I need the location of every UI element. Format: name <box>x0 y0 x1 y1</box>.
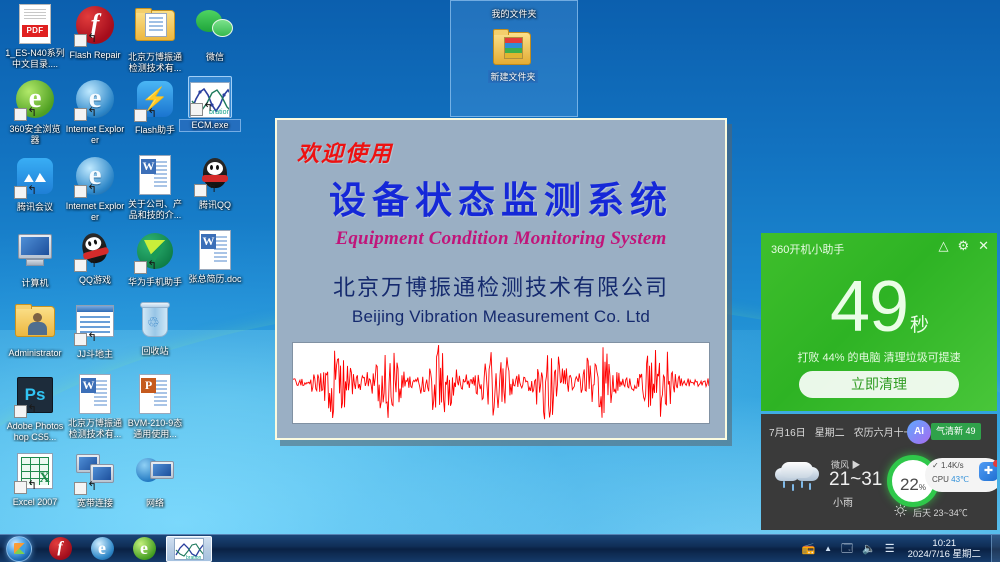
desktop-icon-wechat[interactable]: 微信 <box>185 4 245 63</box>
desktop-icon-label: 腾讯会议 <box>5 202 65 213</box>
desktop-icon-huawei-assistant[interactable]: 华为手机助手 <box>125 230 185 288</box>
forecast-text: 后天 23~34℃ <box>913 506 968 519</box>
accelerate-button[interactable]: ✚ <box>979 462 997 481</box>
desktop-icon-label: 北京万博振通检测技术有... <box>65 418 125 439</box>
jj-game-icon <box>73 305 117 347</box>
widget-subtitle: 打败 44% 的电脑 清理垃圾可提速 <box>761 349 997 365</box>
shirt-icon[interactable]: △ <box>938 239 948 253</box>
desktop-icon-grid: PDF 1_ES-N40系列中文目录.... Flash Repair 北京万博… <box>0 0 245 525</box>
weekday-text: 星期二 <box>815 424 845 439</box>
rain-cloud-icon <box>775 458 821 492</box>
network-speed-row: ✓ 1.4K/s <box>932 461 964 470</box>
desktop-icon-label: Administrator <box>5 348 65 359</box>
desktop-icon-broadband-connection[interactable]: 宽带连接 <box>65 450 125 509</box>
desktop-icon-internet-explorer[interactable]: Internet Explorer <box>65 78 125 145</box>
shortcut-arrow-icon <box>134 109 147 122</box>
shortcut-arrow-icon <box>194 184 207 197</box>
desktop-icon-company-intro-doc[interactable]: W 关于公司、产品和技的介... <box>125 155 185 220</box>
word-document-icon: W <box>193 230 237 272</box>
broadband-icon <box>73 454 117 496</box>
air-quality-badge: 气清新 49 <box>931 423 981 440</box>
splash-title-english: Equipment Condition Monitoring System <box>277 228 725 250</box>
desktop-icon-excel-2007[interactable]: Excel 2007 <box>5 450 65 508</box>
tencent-meeting-icon <box>13 158 57 200</box>
desktop-icon-label: 回收站 <box>125 346 185 357</box>
desktop-icon-label: 宽带连接 <box>65 498 125 509</box>
windows-flag-icon <box>14 543 25 554</box>
desktop-selection-region[interactable]: 我的文件夹 新建文件夹 <box>450 0 578 117</box>
system-tray: 📻 ▲ 🗔 🔈 ☰ 10:21 2024/7/16 星期二 <box>801 536 991 562</box>
desktop-icon-recycle-bin[interactable]: ♲ 回收站 <box>125 300 185 357</box>
user-folder-icon <box>13 304 57 346</box>
desktop-icon-label: 关于公司、产品和技的介... <box>125 199 185 220</box>
desktop-icon-label: JJ斗地主 <box>65 349 125 360</box>
cpu-label: CPU <box>932 475 949 484</box>
desktop-icon-label: Flash助手 <box>125 125 185 136</box>
desktop-icon-label: Internet Explorer <box>65 124 125 145</box>
folder-icon <box>133 8 177 50</box>
show-hidden-icons-button[interactable]: ▲ <box>824 544 832 553</box>
desktop-icon-label: 360安全浏览器 <box>5 124 65 145</box>
pdf-icon: PDF <box>13 4 57 46</box>
start-button[interactable] <box>2 536 38 562</box>
shortcut-arrow-icon <box>14 186 27 199</box>
desktop-icon-label: 微信 <box>185 52 245 63</box>
vibration-waveform-panel <box>292 342 710 424</box>
temperature-range: 21~31 <box>829 469 882 491</box>
network-icon <box>133 454 177 496</box>
date-row: 7月16日 星期二 农历六月十一 <box>769 424 914 439</box>
desktop-icon-label: ECM.exe <box>180 120 240 131</box>
shortcut-arrow-icon <box>14 108 27 121</box>
desktop-icon-administrator[interactable]: Administrator <box>5 300 65 359</box>
qq-penguin-icon <box>193 156 237 198</box>
desktop-icon-flash-assistant[interactable]: Flash助手 <box>125 78 185 136</box>
splash-company-chinese: 北京万博振通检测技术有限公司 <box>277 270 725 302</box>
desktop-icon-ecm-exe[interactable]: bration ECM.exe <box>180 76 240 131</box>
show-desktop-button[interactable] <box>991 535 1000 562</box>
desktop-icon-label: 华为手机助手 <box>125 277 185 288</box>
desktop-icon-label: Excel 2007 <box>5 497 65 508</box>
clean-now-button[interactable]: 立即清理 <box>799 371 959 398</box>
desktop-icon-company-doc[interactable]: W 北京万博振通检测技术有... <box>65 374 125 439</box>
network-speed-value: 1.4K/s <box>941 461 964 470</box>
splash-title-chinese: 设备状态监测系统 <box>277 170 725 224</box>
folder-item-label: 新建文件夹 <box>488 70 537 83</box>
desktop-icon-resume-doc[interactable]: W 张总简历.doc <box>185 230 245 285</box>
word-document-icon: W <box>73 374 117 416</box>
desktop-background[interactable]: PDF 1_ES-N40系列中文目录.... Flash Repair 北京万博… <box>0 0 1000 534</box>
widget-action-buttons: △ ⚙ ✕ <box>938 239 989 253</box>
radio-icon[interactable]: 📻 <box>801 543 815 555</box>
photoshop-icon <box>13 377 57 419</box>
gear-icon[interactable]: ⚙ <box>957 239 969 253</box>
shortcut-arrow-icon <box>74 482 87 495</box>
desktop-icon-label: 计算机 <box>5 278 65 289</box>
desktop-icon-tencent-qq[interactable]: 腾讯QQ <box>185 155 245 211</box>
sun-icon <box>894 504 907 517</box>
desktop-icon-computer[interactable]: 计算机 <box>5 230 65 289</box>
shortcut-arrow-icon <box>74 34 87 47</box>
flash-icon <box>73 6 117 48</box>
desktop-icon-label: Flash Repair <box>65 50 125 61</box>
desktop-icon-network[interactable]: 网络 <box>125 450 185 509</box>
desktop-icon-company-folder[interactable]: 北京万博振通检测技术有... <box>125 4 185 73</box>
weather-system-widget[interactable]: 7月16日 星期二 农历六月十一 AI 气清新 49 微风 ▶ 21~31 小雨… <box>761 414 997 530</box>
desktop-icon-pdf-catalog[interactable]: PDF 1_ES-N40系列中文目录.... <box>5 4 65 69</box>
taskbar-button-ecm-app[interactable]: bration <box>166 536 212 562</box>
desktop-icon-bvm-manual[interactable]: P BVM-210-9态通用使用... <box>125 374 185 439</box>
folder-item-new-folder[interactable]: 新建文件夹 <box>473 29 553 85</box>
shortcut-arrow-icon <box>14 405 27 418</box>
internet-explorer-icon <box>73 80 117 122</box>
desktop-icon-label: Adobe Photoshop CS5... <box>5 421 65 442</box>
huawei-assistant-icon <box>133 233 177 275</box>
taskbar: bration 📻 ▲ 🗔 🔈 ☰ 10:21 2024/7/16 星期二 <box>0 534 1000 562</box>
svg-text:bration: bration <box>186 555 202 560</box>
desktop-icon-label: 1_ES-N40系列中文目录.... <box>5 48 65 69</box>
splash-company-english: Beijing Vibration Measurement Co. Ltd <box>277 307 725 327</box>
powerpoint-document-icon: P <box>133 374 177 416</box>
wechat-icon <box>193 8 237 50</box>
ecm-waveform-icon: bration <box>174 538 204 560</box>
desktop-icon-label: 张总简历.doc <box>185 274 245 285</box>
close-icon[interactable]: ✕ <box>978 239 989 253</box>
ai-assistant-button[interactable]: AI <box>907 420 931 444</box>
clock-date: 2024/7/16 星期二 <box>908 549 981 560</box>
lunar-date-text: 农历六月十一 <box>854 424 914 439</box>
shortcut-arrow-icon <box>74 108 87 121</box>
cpu-usage-number: 22 <box>900 475 919 494</box>
date-text: 7月16日 <box>769 424 806 439</box>
desktop-icon-label: Internet Explorer <box>65 201 125 222</box>
taskbar-button-360-browser[interactable] <box>124 536 164 562</box>
splash-welcome-text: 欢迎使用 <box>297 136 393 168</box>
ecm-waveform-icon: bration <box>188 76 232 118</box>
desktop-icon-jj-landlord[interactable]: JJ斗地主 <box>65 300 125 360</box>
selection-region-header: 我的文件夹 <box>451 7 577 20</box>
desktop-icon-label: 网络 <box>125 498 185 509</box>
color-folder-icon <box>473 29 553 67</box>
word-document-icon: W <box>133 155 177 197</box>
desktop-icon-flash-repair[interactable]: Flash Repair <box>65 4 125 61</box>
desktop-icon-photoshop[interactable]: Adobe Photoshop CS5... <box>5 374 65 442</box>
internet-explorer-icon <box>91 537 114 560</box>
cpu-temp-value: 43℃ <box>951 475 969 484</box>
shortcut-arrow-icon <box>14 481 27 494</box>
360-boot-assistant-widget[interactable]: 360开机小助手 △ ⚙ ✕ 49秒 打败 44% 的电脑 清理垃圾可提速 立即… <box>761 233 997 411</box>
recycle-bin-icon: ♲ <box>133 302 177 344</box>
shortcut-arrow-icon <box>74 259 87 272</box>
shortcut-arrow-icon <box>74 333 87 346</box>
desktop-icon-label: BVM-210-9态通用使用... <box>125 418 185 439</box>
desktop-icon-tencent-meeting[interactable]: 腾讯会议 <box>5 155 65 213</box>
shortcut-arrow-icon <box>134 261 147 274</box>
vibration-waveform-plot <box>293 343 709 423</box>
clock[interactable]: 10:21 2024/7/16 星期二 <box>904 538 985 560</box>
cpu-usage-unit: % <box>919 483 926 492</box>
taskbar-button-flash-repair[interactable] <box>40 536 80 562</box>
desktop-icon-label: 北京万博振通检测技术有... <box>125 52 185 73</box>
cpu-temp-row: CPU 43℃ <box>932 475 969 484</box>
weather-condition: 小雨 <box>833 494 853 509</box>
flash-icon <box>49 537 72 560</box>
network-signal-icon[interactable]: ☰ <box>885 543 895 555</box>
widget-title: 360开机小助手 <box>771 241 844 257</box>
boot-seconds-unit: 秒 <box>910 315 928 336</box>
excel-icon <box>13 453 57 495</box>
clock-time: 10:21 <box>908 538 981 549</box>
action-center-icon[interactable]: 🗔 <box>841 543 853 555</box>
qq-game-icon <box>73 231 117 273</box>
desktop-icon-360-browser[interactable]: 360安全浏览器 <box>5 78 65 145</box>
shortcut-arrow-icon <box>190 103 203 116</box>
boot-seconds-number: 49 <box>830 267 908 347</box>
desktop-icon-internet-explorer-2[interactable]: Internet Explorer <box>65 155 125 222</box>
browser-360-icon <box>13 80 57 122</box>
bolt-icon <box>133 81 177 123</box>
desktop-icon-label: 腾讯QQ <box>185 200 245 211</box>
shortcut-arrow-icon <box>74 185 87 198</box>
internet-explorer-icon <box>73 157 117 199</box>
desktop-icon-qq-game[interactable]: QQ游戏 <box>65 230 125 286</box>
ecm-splash-window[interactable]: 欢迎使用 设备状态监测系统 Equipment Condition Monito… <box>275 118 727 440</box>
desktop-icon-label: QQ游戏 <box>65 275 125 286</box>
taskbar-button-internet-explorer[interactable] <box>82 536 122 562</box>
browser-360-icon <box>133 537 156 560</box>
computer-icon <box>13 234 57 276</box>
volume-icon[interactable]: 🔈 <box>862 543 876 555</box>
